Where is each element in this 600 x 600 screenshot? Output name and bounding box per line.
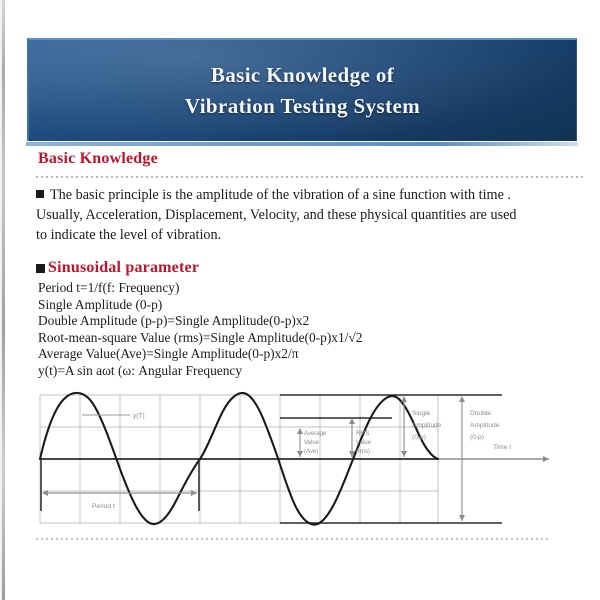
rms-value-label-line-3: (rms) — [356, 449, 370, 455]
square-bullet-icon — [36, 190, 44, 198]
double-amplitude-label-line-3: (0-p) — [470, 434, 484, 441]
section-heading-sinusoidal-parameter: Sinusoidal parameter — [36, 259, 199, 277]
sinusoidal-heading-label: Sinusoidal parameter — [48, 259, 199, 277]
title-banner-underline — [26, 142, 578, 146]
sine-waveform-diagram: Time t y(T) Period t Average Value (Ave)… — [32, 389, 580, 527]
single-amplitude-label-line-1: Single — [412, 410, 431, 417]
title-line-1: Basic Knowledge of — [185, 60, 420, 90]
average-value-label-line-2: Value — [304, 440, 320, 446]
formula-line: y(t)=A sin aωt (ω: Angular Frequency — [38, 363, 498, 380]
double-amplitude-label-line-1: Double — [470, 410, 491, 417]
dotted-divider-bottom — [36, 538, 548, 540]
rms-value-label-line-1: RMS — [356, 431, 369, 437]
formula-line: Double Amplitude (p-p)=Single Amplitude(… — [38, 313, 498, 330]
intro-paragraph-line-1: The basic principle is the amplitude of … — [50, 187, 511, 203]
scan-edge-artifact — [2, 0, 5, 600]
title-line-2: Vibration Testing System — [185, 91, 420, 121]
dotted-divider-top — [36, 176, 584, 178]
double-amplitude-label-line-2: Amplitude — [470, 422, 500, 429]
average-value-label-line-1: Average — [304, 431, 327, 437]
section-heading-basic-knowledge: Basic Knowledge — [38, 150, 158, 168]
slide-page: Basic Knowledge of Vibration Testing Sys… — [0, 0, 600, 600]
title-banner-text: Basic Knowledge of Vibration Testing Sys… — [185, 60, 420, 121]
single-amplitude-label-line-2: Amplitude — [412, 422, 442, 429]
period-label: Period t — [92, 503, 115, 510]
formula-line: Average Value(Ave)=Single Amplitude(0-p)… — [38, 346, 498, 363]
rms-value-label-line-2: Value — [356, 440, 372, 446]
curve-callout-label: y(T) — [133, 413, 145, 420]
formula-line: Single Amplitude (0-p) — [38, 297, 498, 314]
time-axis-label: Time t — [493, 444, 511, 451]
formula-line: Root-mean-square Value (rms)=Single Ampl… — [38, 330, 498, 347]
formula-line: Period t=1/f(f: Frequency) — [38, 280, 498, 297]
intro-paragraph: The basic principle is the amplitude of … — [36, 185, 584, 245]
average-value-label-line-3: (Ave) — [304, 449, 318, 455]
title-banner: Basic Knowledge of Vibration Testing Sys… — [27, 38, 577, 141]
title-banner-background: Basic Knowledge of Vibration Testing Sys… — [27, 38, 577, 141]
intro-paragraph-line-2: Usually, Acceleration, Displacement, Vel… — [36, 207, 517, 223]
formula-list: Period t=1/f(f: Frequency) Single Amplit… — [38, 280, 498, 379]
square-bullet-icon — [36, 264, 45, 273]
basic-knowledge-heading-label: Basic Knowledge — [38, 150, 158, 167]
intro-paragraph-line-3: to indicate the level of vibration. — [36, 227, 221, 243]
single-amplitude-label-line-3: (0-p) — [412, 434, 426, 441]
